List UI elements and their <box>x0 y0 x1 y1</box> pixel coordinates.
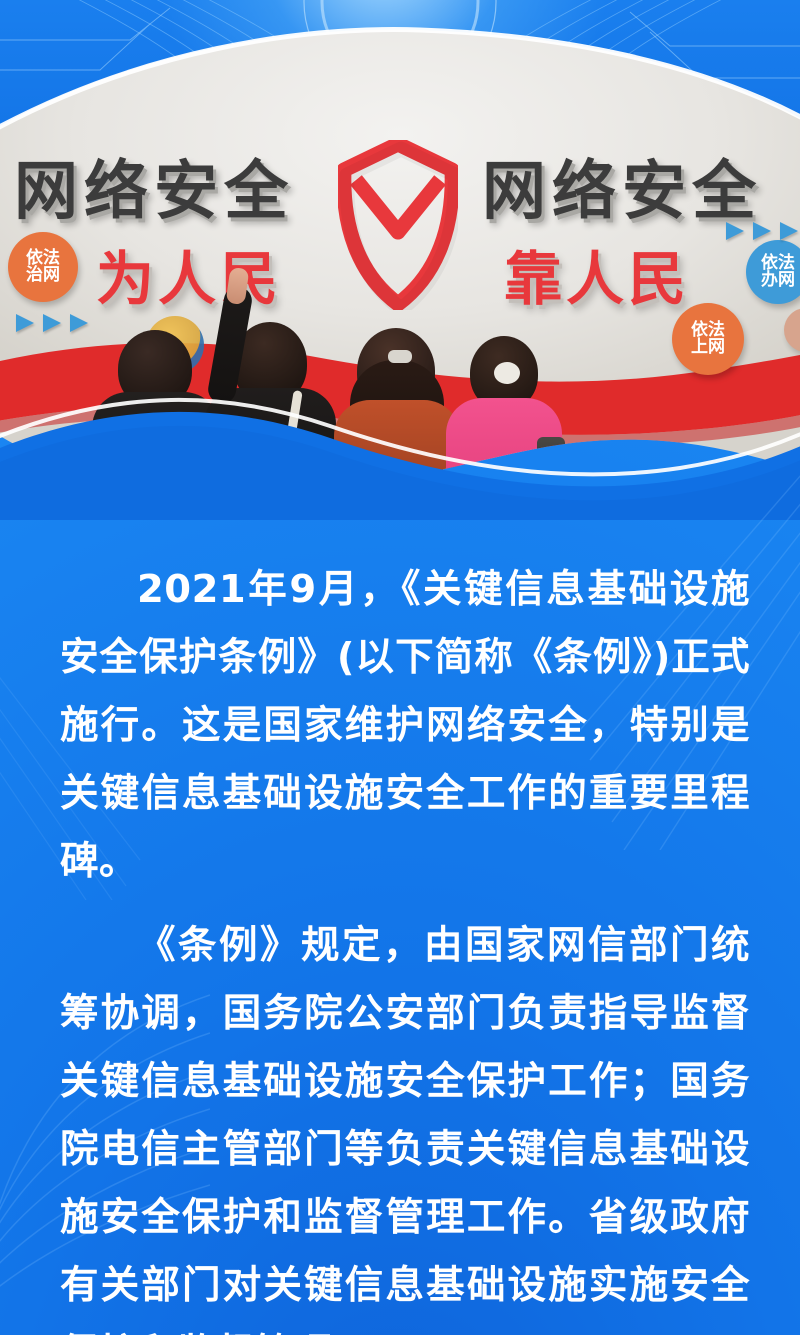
badge-line-2: 办网 <box>761 272 795 289</box>
hero-photo-section: 网络安全 网络安全 为人民 靠人民 依法 治网 依法 办网 依法 上 <box>0 0 800 520</box>
poster-root: 网络安全 网络安全 为人民 靠人民 依法 治网 依法 办网 依法 上 <box>0 0 800 1335</box>
badge-line-2: 治网 <box>26 267 60 284</box>
article-body: 2021年9月，《关键信息基础设施安全保护条例》(以下简称《条例》)正式施行。这… <box>60 556 750 1335</box>
blue-wave-overlay <box>0 330 800 520</box>
badge-yifa-zhiwang: 依法 治网 <box>8 232 78 302</box>
article-paragraph-1: 2021年9月，《关键信息基础设施安全保护条例》(以下简称《条例》)正式施行。这… <box>60 556 750 896</box>
wall-subline-left: 为人民 <box>96 232 282 316</box>
wall-subline-right: 靠人民 <box>504 232 690 316</box>
article-paragraph-2: 《条例》规定，由国家网信部门统筹协调，国务院公安部门负责指导监督关键信息基础设施… <box>60 912 750 1335</box>
arch-outline-stroke <box>0 0 800 240</box>
